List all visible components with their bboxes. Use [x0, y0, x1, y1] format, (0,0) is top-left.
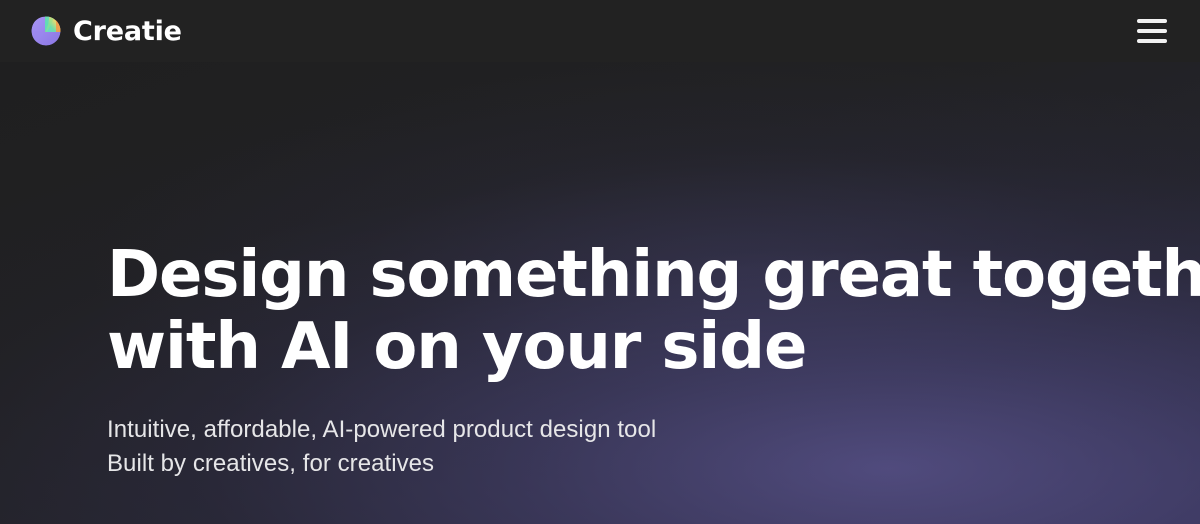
creatie-blob-logo-icon: [30, 15, 62, 47]
hero-section: Design something great together with AI …: [0, 62, 1200, 524]
hero-subheadline-line-2: Built by creatives, for creatives: [107, 447, 656, 481]
hero-subheadline-line-1: Intuitive, affordable, AI-powered produc…: [107, 413, 656, 447]
landing-page: Creatie Design something great together …: [0, 0, 1200, 524]
hamburger-menu-button[interactable]: [1130, 11, 1174, 51]
hero-headline-line-1: Design something great together: [107, 239, 1200, 311]
hero-headline-line-2: with AI on your side: [107, 311, 1200, 383]
hero-headline: Design something great together with AI …: [107, 239, 1200, 383]
hamburger-bar-bottom: [1137, 39, 1167, 43]
brand-logo-link[interactable]: Creatie: [30, 15, 182, 47]
site-header: Creatie: [0, 0, 1200, 62]
hero-subheadline: Intuitive, affordable, AI-powered produc…: [107, 413, 656, 481]
hamburger-bar-top: [1137, 19, 1167, 23]
brand-name: Creatie: [73, 18, 182, 45]
hamburger-bar-middle: [1137, 29, 1167, 33]
